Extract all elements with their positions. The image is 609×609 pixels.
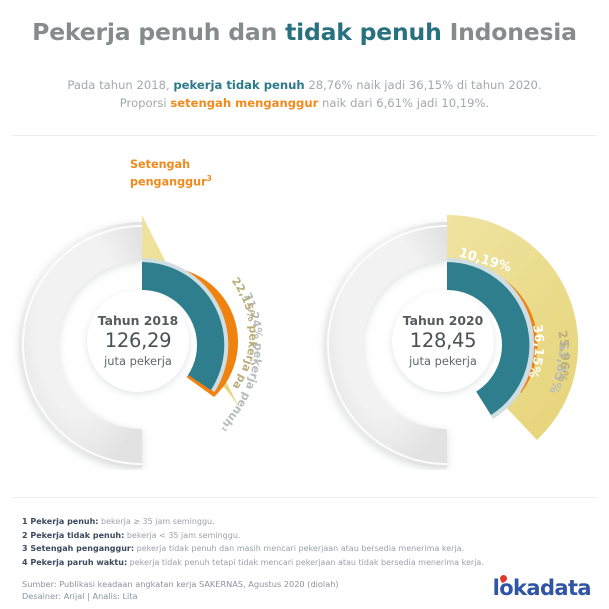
footnote-item: 1 Pekerja penuh: bekerja ≥ 35 jam seming… [22,515,542,529]
title-part-1: Pekerja penuh dan [32,18,285,46]
center-unit-2020: juta pekerja [409,353,477,369]
footnote-term: Setengah penganggur: [30,544,134,553]
credits-block: Sumber: Publikasi keadaan angkatan kerja… [22,578,339,603]
footnote-num: 4 [22,558,28,567]
subtitle-1c: 28,76% naik jadi 36,15% di tahun 2020. [305,78,542,92]
footnote-term: Pekerja tidak penuh: [30,531,124,540]
callout-sup: 3 [207,174,212,183]
callout-line-2-text: penganggur [130,176,207,189]
source-line: Sumber: Publikasi keadaan angkatan kerja… [22,578,339,590]
center-unit-2018: juta pekerja [104,353,172,369]
center-number-2020: 128,45 [410,329,476,353]
callout-line-1: Setengah [130,158,212,172]
center-year-2018: Tahun 2018 [98,313,178,329]
subtitle-line-2: Proporsi setengah menganggur naik dari 6… [0,94,609,112]
footnote-num: 2 [22,531,28,540]
center-year-2020: Tahun 2020 [403,313,483,329]
infographic-page: Pekerja penuh dan tidak penuh Indonesia … [0,0,609,609]
footnote-desc: pekerja tidak penuh dan masih mencari pe… [134,544,464,553]
logo-o-with-marker: o [499,576,513,600]
donut-chart-2018: 71,24% pekerja penuh¹ 28,76% tidak penuh… [2,140,302,470]
title-part-2: Indonesia [442,18,577,46]
subtitle-2b-highlight: setengah menganggur [170,96,318,110]
footnote-num: 1 [22,517,28,526]
subtitle-line-1: Pada tahun 2018, pekerja tidak penuh 28,… [0,76,609,94]
footnote-term: Pekerja penuh: [30,517,98,526]
page-title: Pekerja penuh dan tidak penuh Indonesia [0,18,609,46]
center-number-2018: 126,29 [105,329,171,353]
designer-line: Desainer: Arijal | Analis: Lita [22,590,339,602]
teardrop-icon [499,574,509,584]
footnote-num: 3 [22,544,28,553]
title-highlight: tidak penuh [285,18,442,46]
footnote-item: 4 Pekerja paruh waktu: pekerja tidak pen… [22,556,542,570]
footnote-item: 3 Setengah penganggur: pekerja tidak pen… [22,542,542,556]
subtitle-1b-highlight: pekerja tidak penuh [173,78,304,92]
footnote-desc: bekerja < 35 jam seminggu. [124,531,240,540]
callout-line-2: penganggur3 [130,172,212,190]
page-subtitle: Pada tahun 2018, pekerja tidak penuh 28,… [0,76,609,112]
donut-chart-2020: 63,85% 36,15% 25,96% 10,19% Tahun 2020 1… [307,140,607,470]
footnote-desc: bekerja ≥ 35 jam seminggu. [99,517,215,526]
callout-underemployed: Setengah penganggur3 [130,158,212,190]
header-divider [12,135,597,136]
charts-container: 71,24% pekerja penuh¹ 28,76% tidak penuh… [0,140,609,470]
subtitle-2a: Proporsi [120,96,171,110]
center-badge-2018: Tahun 2018 126,29 juta pekerja [87,290,189,392]
center-badge-2020: Tahun 2020 128,45 juta pekerja [392,290,494,392]
footnotes-list: 1 Pekerja penuh: bekerja ≥ 35 jam seming… [22,515,542,569]
footnote-term: Pekerja paruh waktu: [30,558,127,567]
footnote-desc: pekerja tidak penuh tetapi tidak mencari… [127,558,484,567]
logo-post: kadata [513,576,591,600]
logo-pre: l [493,576,500,600]
label-underemployed-2018: 6,61% [154,214,198,229]
subtitle-1a: Pada tahun 2018, [67,78,173,92]
footer-divider [12,497,597,498]
lokadata-logo[interactable]: lokadata [493,576,591,600]
footnote-item: 2 Pekerja tidak penuh: bekerja < 35 jam … [22,529,542,543]
subtitle-2c: naik dari 6,61% jadi 10,19%. [318,96,489,110]
